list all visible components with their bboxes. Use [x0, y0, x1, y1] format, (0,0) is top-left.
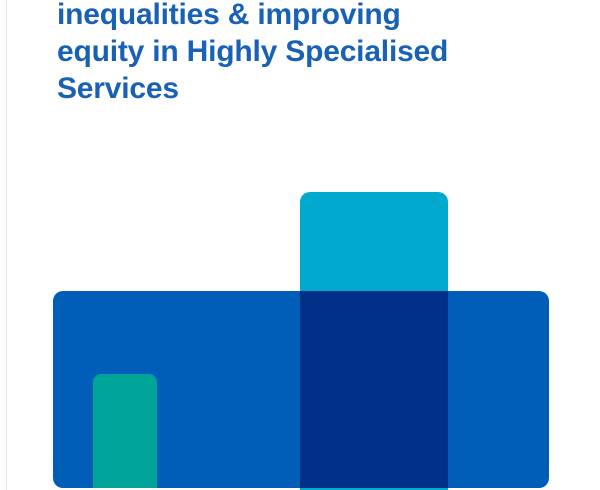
graphic-shape-navy-overlay [300, 291, 448, 488]
graphic-shape-teal-block [93, 374, 157, 488]
cover-graphic [0, 0, 600, 490]
cover-page: inequalities & improving equity in Highl… [0, 0, 600, 490]
